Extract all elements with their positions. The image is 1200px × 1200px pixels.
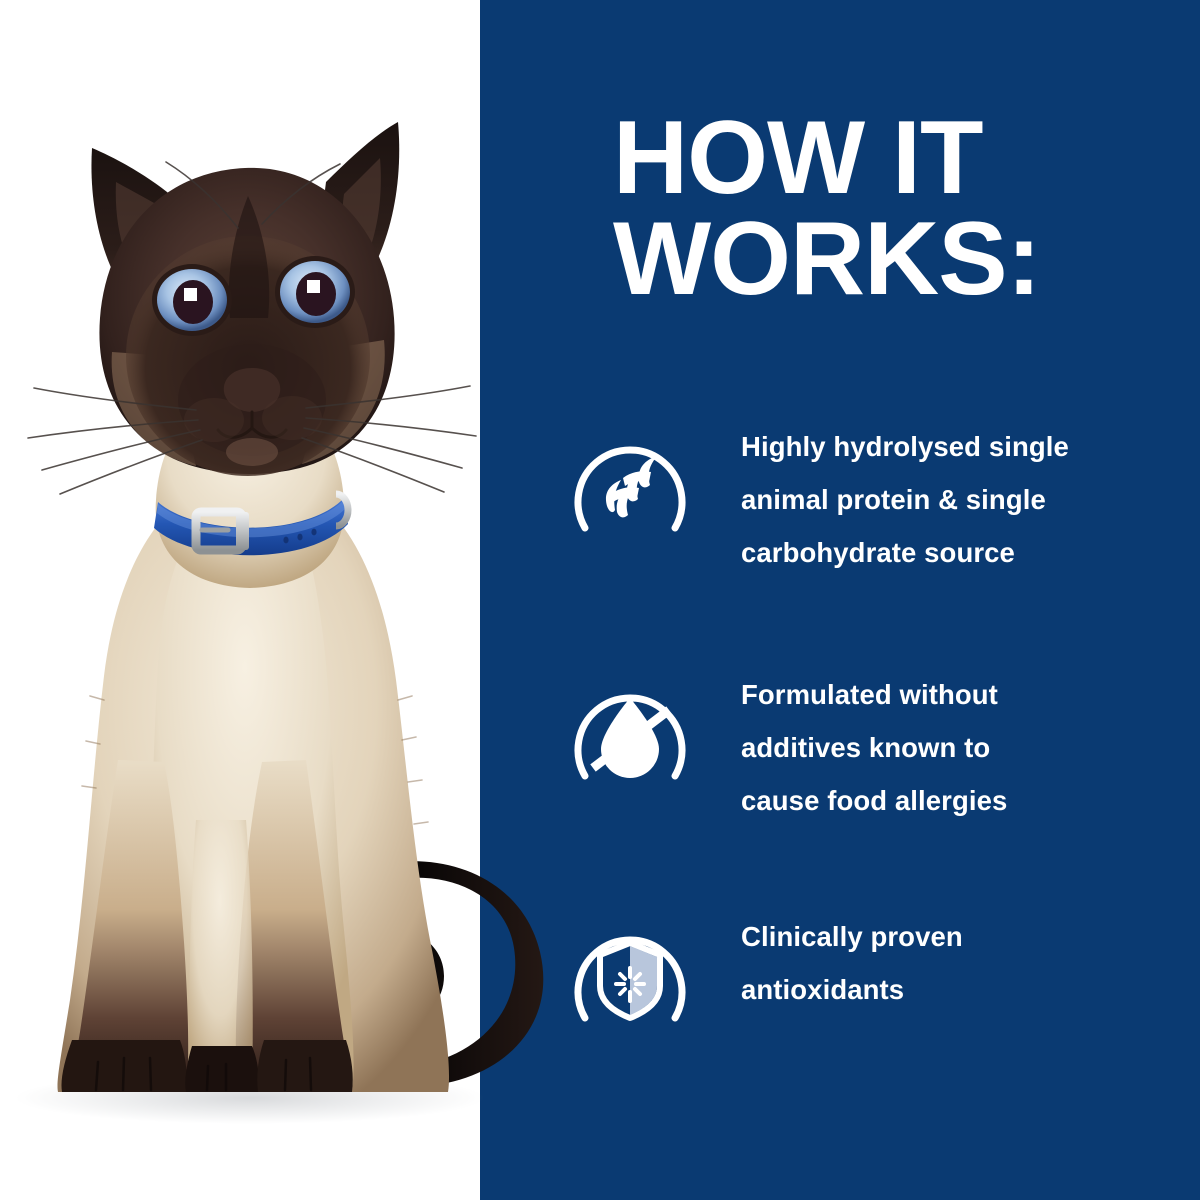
page-title: HOW IT WORKS: <box>613 108 1173 310</box>
cat-photo <box>0 0 600 1200</box>
promo-poster: HOW IT WORKS: <box>0 0 1200 1200</box>
feature-item-label: Clinically proven antioxidants <box>741 908 1161 1016</box>
feature-item-label: Formulated without additives known to ca… <box>741 666 1161 827</box>
photo-panel <box>0 0 480 1200</box>
feature-item-label: Highly hydrolysed single animal protein … <box>741 418 1161 579</box>
